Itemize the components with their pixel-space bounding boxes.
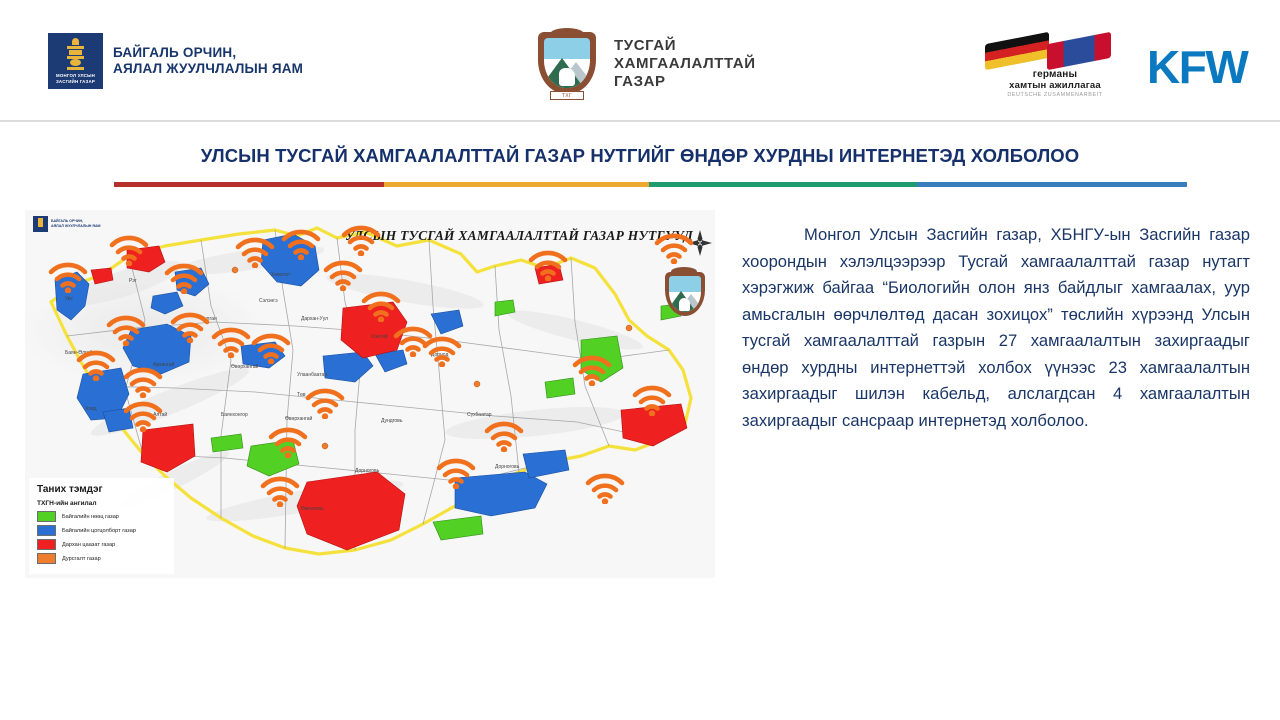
divider-segment-blue xyxy=(917,182,1187,187)
protected-areas-name: ТУСГАЙ ХАМГААЛАЛТТАЙ ГАЗАР xyxy=(614,37,756,91)
wifi-signal-icon xyxy=(235,236,275,268)
article-body: Монгол Улсын Засгийн газар, ХБНГУ-ын Зас… xyxy=(742,222,1250,434)
partner-logos: германы хамтын ажиллагаа DEUTSCHE ZUSAMM… xyxy=(985,36,1247,98)
argali-sheep-icon xyxy=(559,68,575,86)
wifi-signal-icon xyxy=(170,311,210,343)
ministry-logo: МОНГОЛ УЛСЫН ЗАСГИЙН ГАЗАР БАЙГАЛЬ ОРЧИН… xyxy=(48,33,303,89)
flags-swoosh-icon xyxy=(985,36,1125,68)
wifi-signal-icon xyxy=(422,335,462,367)
emblem-caption: МОНГОЛ УЛСЫН ЗАСГИЙН ГАЗАР xyxy=(48,73,103,84)
wifi-signal-icon xyxy=(251,332,291,364)
german-flag-icon xyxy=(985,32,1049,70)
shield-ribbon: ТХГ xyxy=(550,91,584,100)
wifi-signal-icon xyxy=(572,354,612,386)
wifi-signal-icon xyxy=(361,290,401,322)
wifi-signal-icon xyxy=(323,259,363,291)
wifi-signal-icon xyxy=(211,326,251,358)
mongolian-flag-icon xyxy=(1047,32,1111,70)
wifi-signal-icon xyxy=(123,366,163,398)
divider-segment-red xyxy=(114,182,384,187)
wifi-signal-icon xyxy=(632,384,672,416)
wifi-signal-icon xyxy=(305,387,345,419)
mongolia-government-emblem: МОНГОЛ УЛСЫН ЗАСГИЙН ГАЗАР xyxy=(48,33,103,89)
divider-segment-green xyxy=(649,182,917,187)
wifi-signal-icon xyxy=(484,420,524,452)
wifi-signal-icon xyxy=(48,261,88,293)
wifi-signal-icon xyxy=(585,472,625,504)
wifi-signal-icon xyxy=(106,314,146,346)
wifi-signal-icon xyxy=(164,262,204,294)
wifi-signal-icon xyxy=(281,228,321,260)
ministry-name: БАЙГАЛЬ ОРЧИН, АЯЛАЛ ЖУУЛЧЛАЛЫН ЯАМ xyxy=(113,45,303,77)
protected-areas-shield-icon: ТХГ xyxy=(538,28,600,100)
divider-segment-orange xyxy=(384,182,649,187)
kfw-logo: KFW xyxy=(1147,44,1247,90)
accent-divider xyxy=(114,182,1187,187)
wifi-signal-icon xyxy=(654,232,694,264)
wifi-signal-icon xyxy=(109,234,149,266)
wifi-signal-icon xyxy=(123,400,163,432)
wifi-signal-icon xyxy=(436,457,476,489)
wifi-marker-layer xyxy=(25,210,715,578)
protected-areas-logo: ТХГ ТУСГАЙ ХАМГААЛАЛТТАЙ ГАЗАР xyxy=(538,28,756,100)
header-divider-rule xyxy=(0,120,1280,122)
map-figure: Увс Рэг Хөвсгөл Булган Сэлэнгэ Дархан-Уу… xyxy=(25,210,715,578)
wifi-signal-icon xyxy=(260,475,300,507)
german-cooperation-logo: германы хамтын ажиллагаа DEUTSCHE ZUSAMM… xyxy=(985,36,1125,98)
header-logo-bar: МОНГОЛ УЛСЫН ЗАСГИЙН ГАЗАР БАЙГАЛЬ ОРЧИН… xyxy=(0,0,1280,120)
wifi-signal-icon xyxy=(341,224,381,256)
german-coop-line3: DEUTSCHE ZUSAMMENARBEIT xyxy=(985,92,1125,98)
wifi-signal-icon xyxy=(393,325,433,357)
wifi-signal-icon xyxy=(76,349,116,381)
soyombo-icon xyxy=(67,38,84,71)
page-title: УЛСЫН ТУСГАЙ ХАМГААЛАЛТТАЙ ГАЗАР НУТГИЙГ… xyxy=(0,145,1280,167)
german-coop-line2: хамтын ажиллагаа xyxy=(985,80,1125,91)
wifi-signal-icon xyxy=(528,249,568,281)
wifi-signal-icon xyxy=(268,426,308,458)
german-coop-line1: германы xyxy=(985,69,1125,80)
